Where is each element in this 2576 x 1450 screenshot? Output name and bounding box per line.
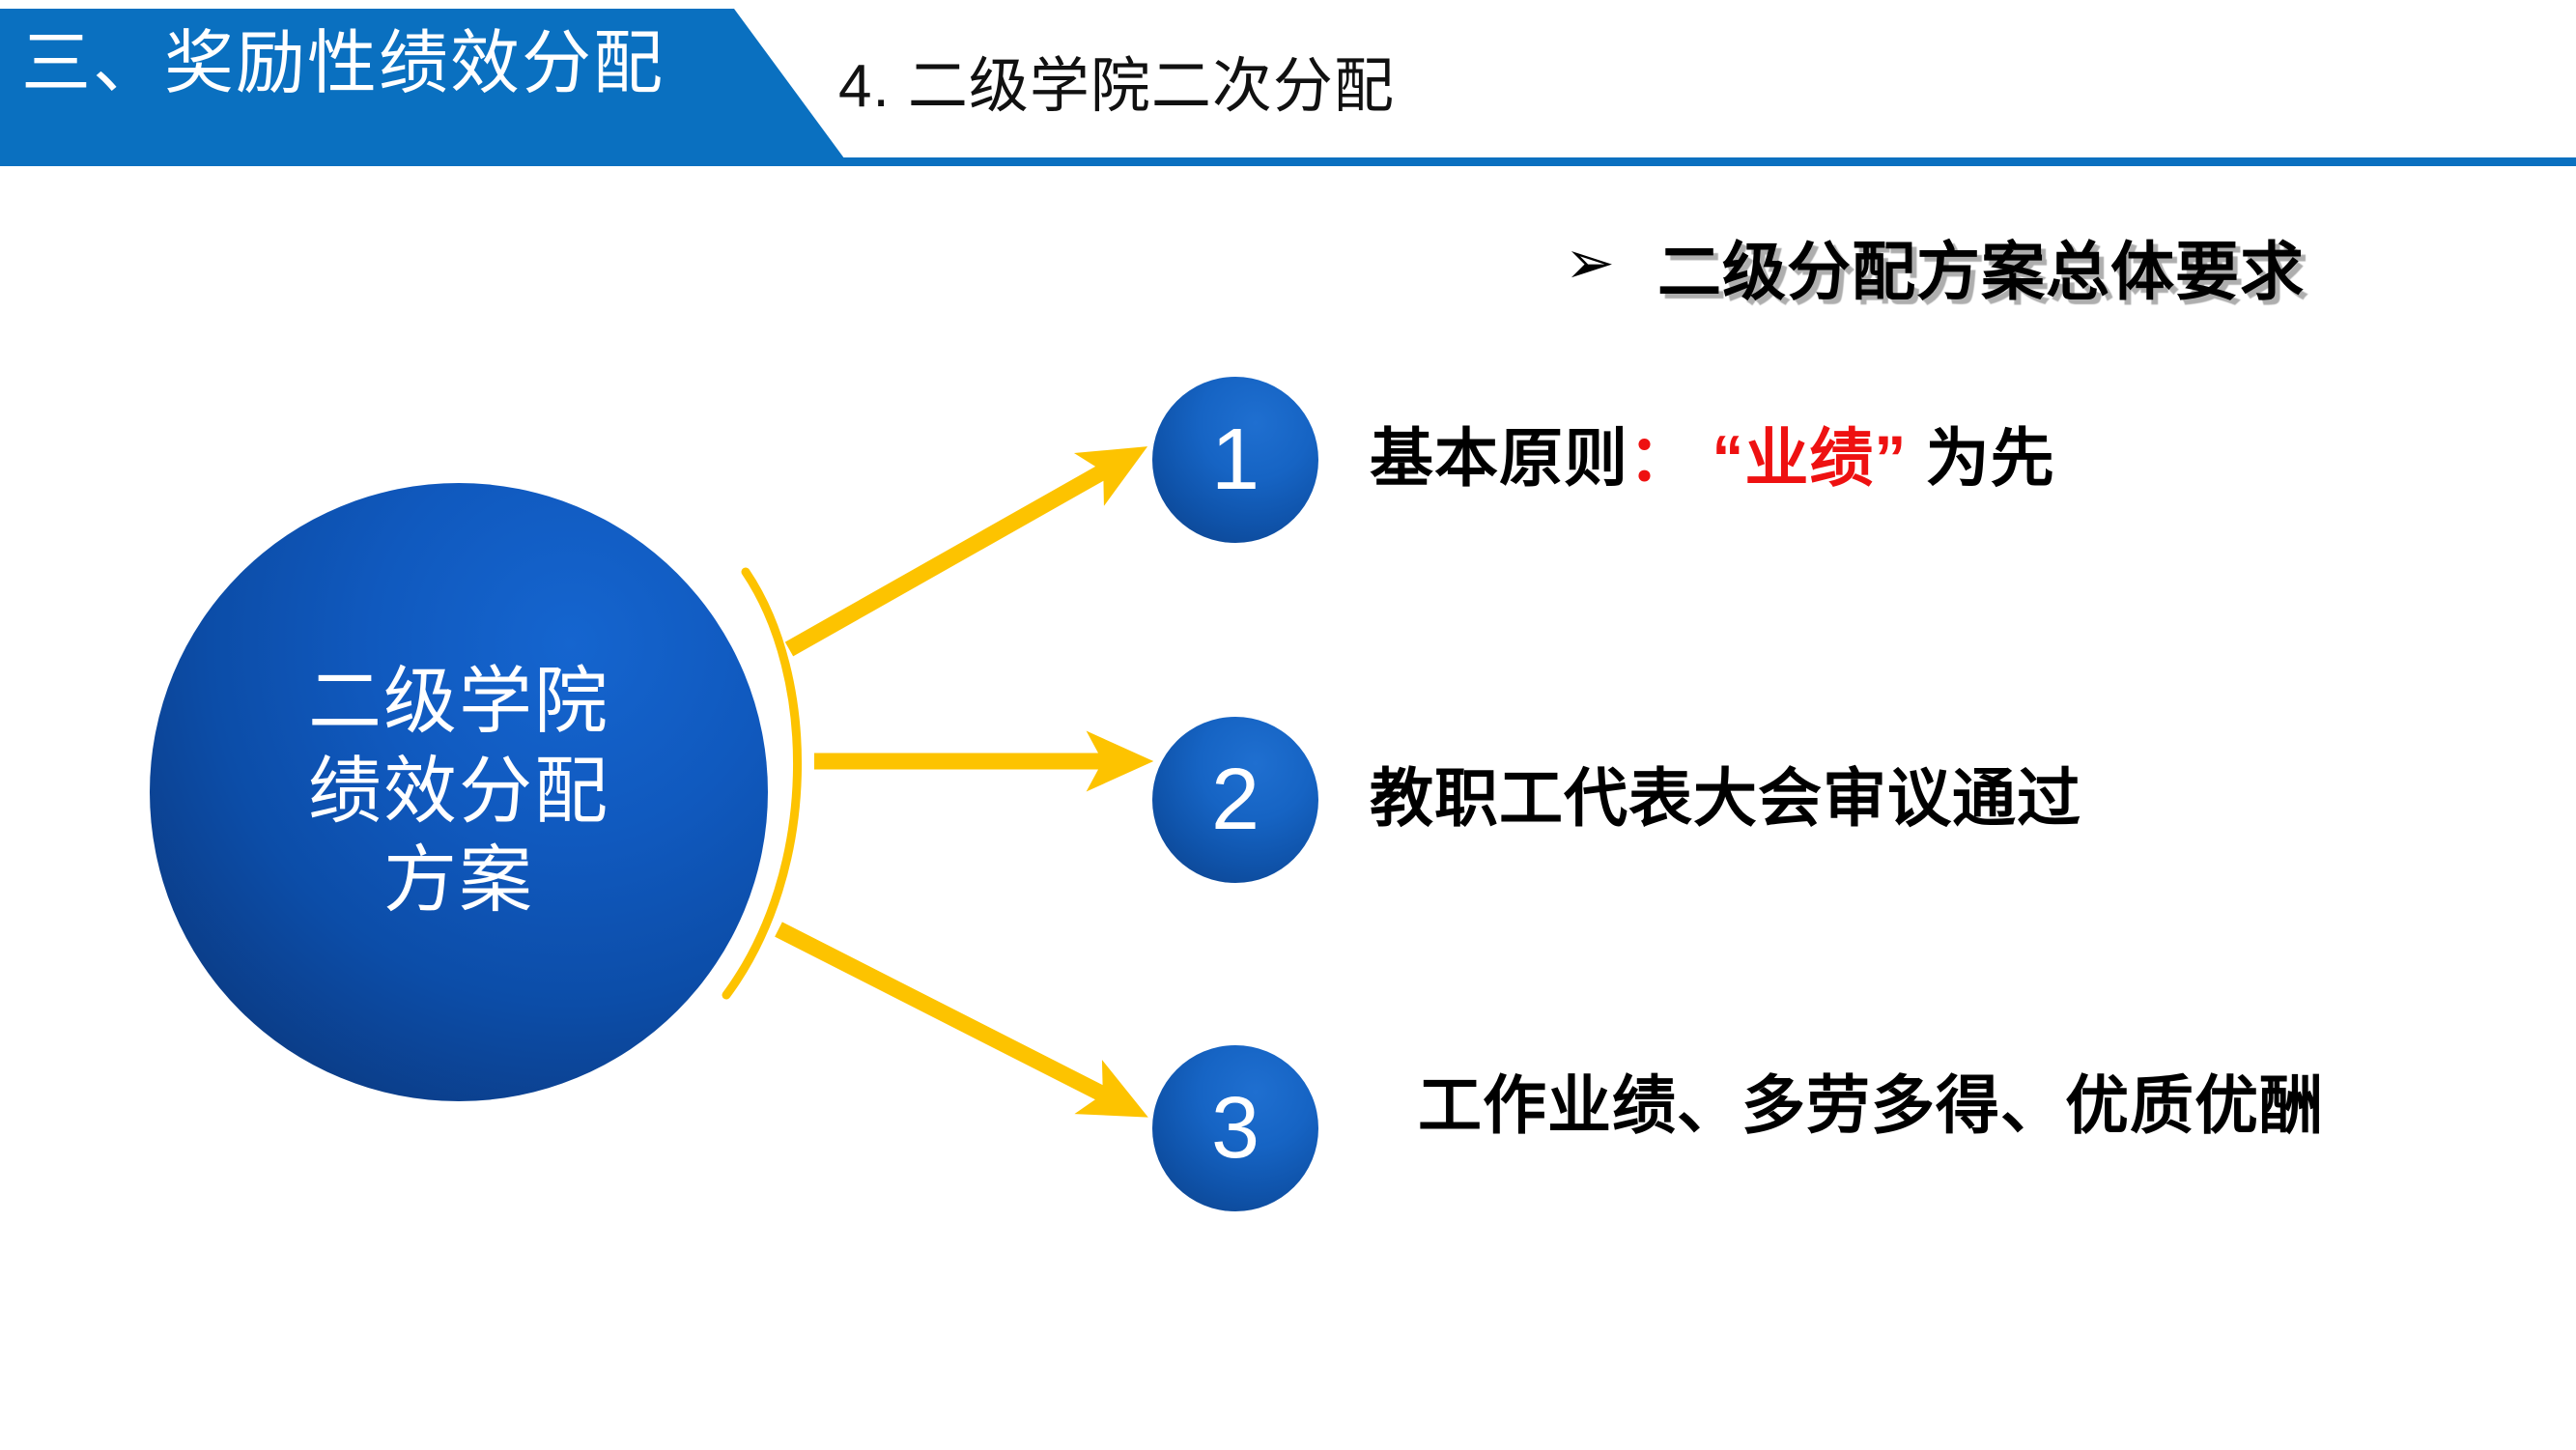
node-label-3: 工作业绩、多劳多得、优质优酬 — [1383, 1063, 2359, 1149]
node-1-segment-0: 基本原则 — [1370, 422, 1628, 494]
node-circle-1: 1 — [1152, 377, 1318, 543]
hub-label-line-3: 方案 — [308, 837, 609, 926]
arrow-to-node-1 — [789, 462, 1120, 649]
node-number-3: 3 — [1211, 1085, 1260, 1172]
arrow-bullet-icon: ➢ — [1565, 233, 1615, 293]
node-label-1: 基本原则： “业绩” 为先 — [1370, 415, 2055, 501]
hub-circle: 二级学院 绩效分配 方案 — [150, 483, 768, 1101]
node-1-segment-2 — [1693, 422, 1712, 494]
node-circle-2: 2 — [1152, 717, 1318, 883]
section-heading: ➢ 二级分配方案总体要求 — [1565, 220, 2305, 313]
slide-canvas: 三、奖励性绩效分配 4. 二级学院二次分配 ➢ 二级分配方案总体要求 二级学院 … — [0, 0, 2576, 1450]
node-1-segment-4: 为先 — [1907, 422, 2054, 494]
node-1-segment-3: “业绩” — [1712, 422, 1907, 494]
node-number-2: 2 — [1211, 756, 1260, 843]
hub-label-line-2: 绩效分配 — [308, 748, 609, 838]
header-subtitle: 4. 二级学院二次分配 — [838, 37, 1395, 124]
section-heading-label: 二级分配方案总体要求 — [1657, 220, 2305, 313]
arrow-to-node-3 — [778, 929, 1120, 1103]
hub-label: 二级学院 绩效分配 方案 — [308, 658, 609, 926]
hub-label-line-1: 二级学院 — [308, 658, 609, 748]
header-section-title: 三、奖励性绩效分配 — [21, 29, 736, 99]
node-circle-3: 3 — [1152, 1045, 1318, 1211]
node-number-1: 1 — [1211, 416, 1260, 503]
header-divider-line — [763, 157, 2576, 166]
node-1-segment-1: ： — [1628, 422, 1693, 494]
node-label-2: 教职工代表大会审议通过 — [1370, 755, 2081, 841]
